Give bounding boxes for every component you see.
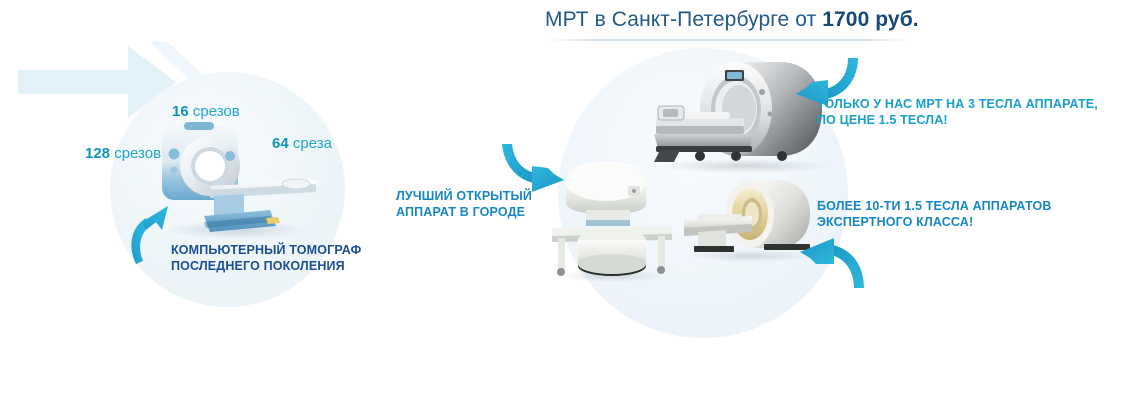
mri-1-5-tesla-scanner-image	[672, 172, 822, 264]
caption-1-5-tesla: БОЛЕЕ 10-ТИ 1.5 ТЕСЛА АППАРАТОВ ЭКСПЕРТН…	[817, 198, 1052, 230]
caption-line-2: ЭКСПЕРТНОГО КЛАССА!	[817, 214, 1052, 230]
caption-line-2: ПО ЦЕНЕ 1.5 ТЕСЛА!	[817, 112, 1098, 128]
slice-number: 128	[85, 145, 110, 162]
slice-number: 16	[172, 103, 189, 120]
caption-3-tesla: ТОЛЬКО У НАС МРТ НА 3 ТЕСЛА АППАРАТЕ, ПО…	[817, 96, 1098, 128]
slice-word: срезов	[189, 103, 240, 120]
caption-line-2: АППАРАТ В ГОРОДЕ	[396, 204, 532, 220]
promo-banner: МРТ в Санкт-Петербурге от 1700 руб.	[0, 0, 1140, 412]
caption-line-1: ТОЛЬКО У НАС МРТ НА 3 ТЕСЛА АППАРАТЕ,	[817, 96, 1098, 112]
caption-line-1: ЛУЧШИЙ ОТКРЫТЫЙ	[396, 188, 532, 204]
slice-label-128: 128 срезов	[85, 145, 161, 162]
slice-word: срезов	[110, 145, 161, 162]
slice-label-64: 64 среза	[272, 135, 332, 152]
mri-3-tesla-scanner-image	[640, 52, 840, 174]
caption-line-1: КОМПЬЮТЕРНЫЙ ТОМОГРАФ	[171, 242, 361, 258]
caption-line-1: БОЛЕЕ 10-ТИ 1.5 ТЕСЛА АППАРАТОВ	[817, 198, 1052, 214]
caption-line-2: ПОСЛЕДНЕГО ПОКОЛЕНИЯ	[171, 258, 361, 274]
page-title: МРТ в Санкт-Петербурге от 1700 руб.	[545, 8, 919, 32]
slice-label-16: 16 срезов	[172, 103, 240, 120]
page-title-price: 1700 руб.	[822, 8, 919, 31]
page-title-prefix: МРТ в Санкт-Петербурге от	[545, 8, 822, 31]
caption-open-mri: ЛУЧШИЙ ОТКРЫТЫЙ АППАРАТ В ГОРОДЕ	[396, 188, 532, 220]
title-underline	[548, 39, 911, 41]
open-mri-scanner-image	[546, 158, 678, 283]
caption-ct-scanner: КОМПЬЮТЕРНЫЙ ТОМОГРАФ ПОСЛЕДНЕГО ПОКОЛЕН…	[171, 242, 361, 274]
slice-word: среза	[289, 135, 332, 152]
slice-number: 64	[272, 135, 289, 152]
